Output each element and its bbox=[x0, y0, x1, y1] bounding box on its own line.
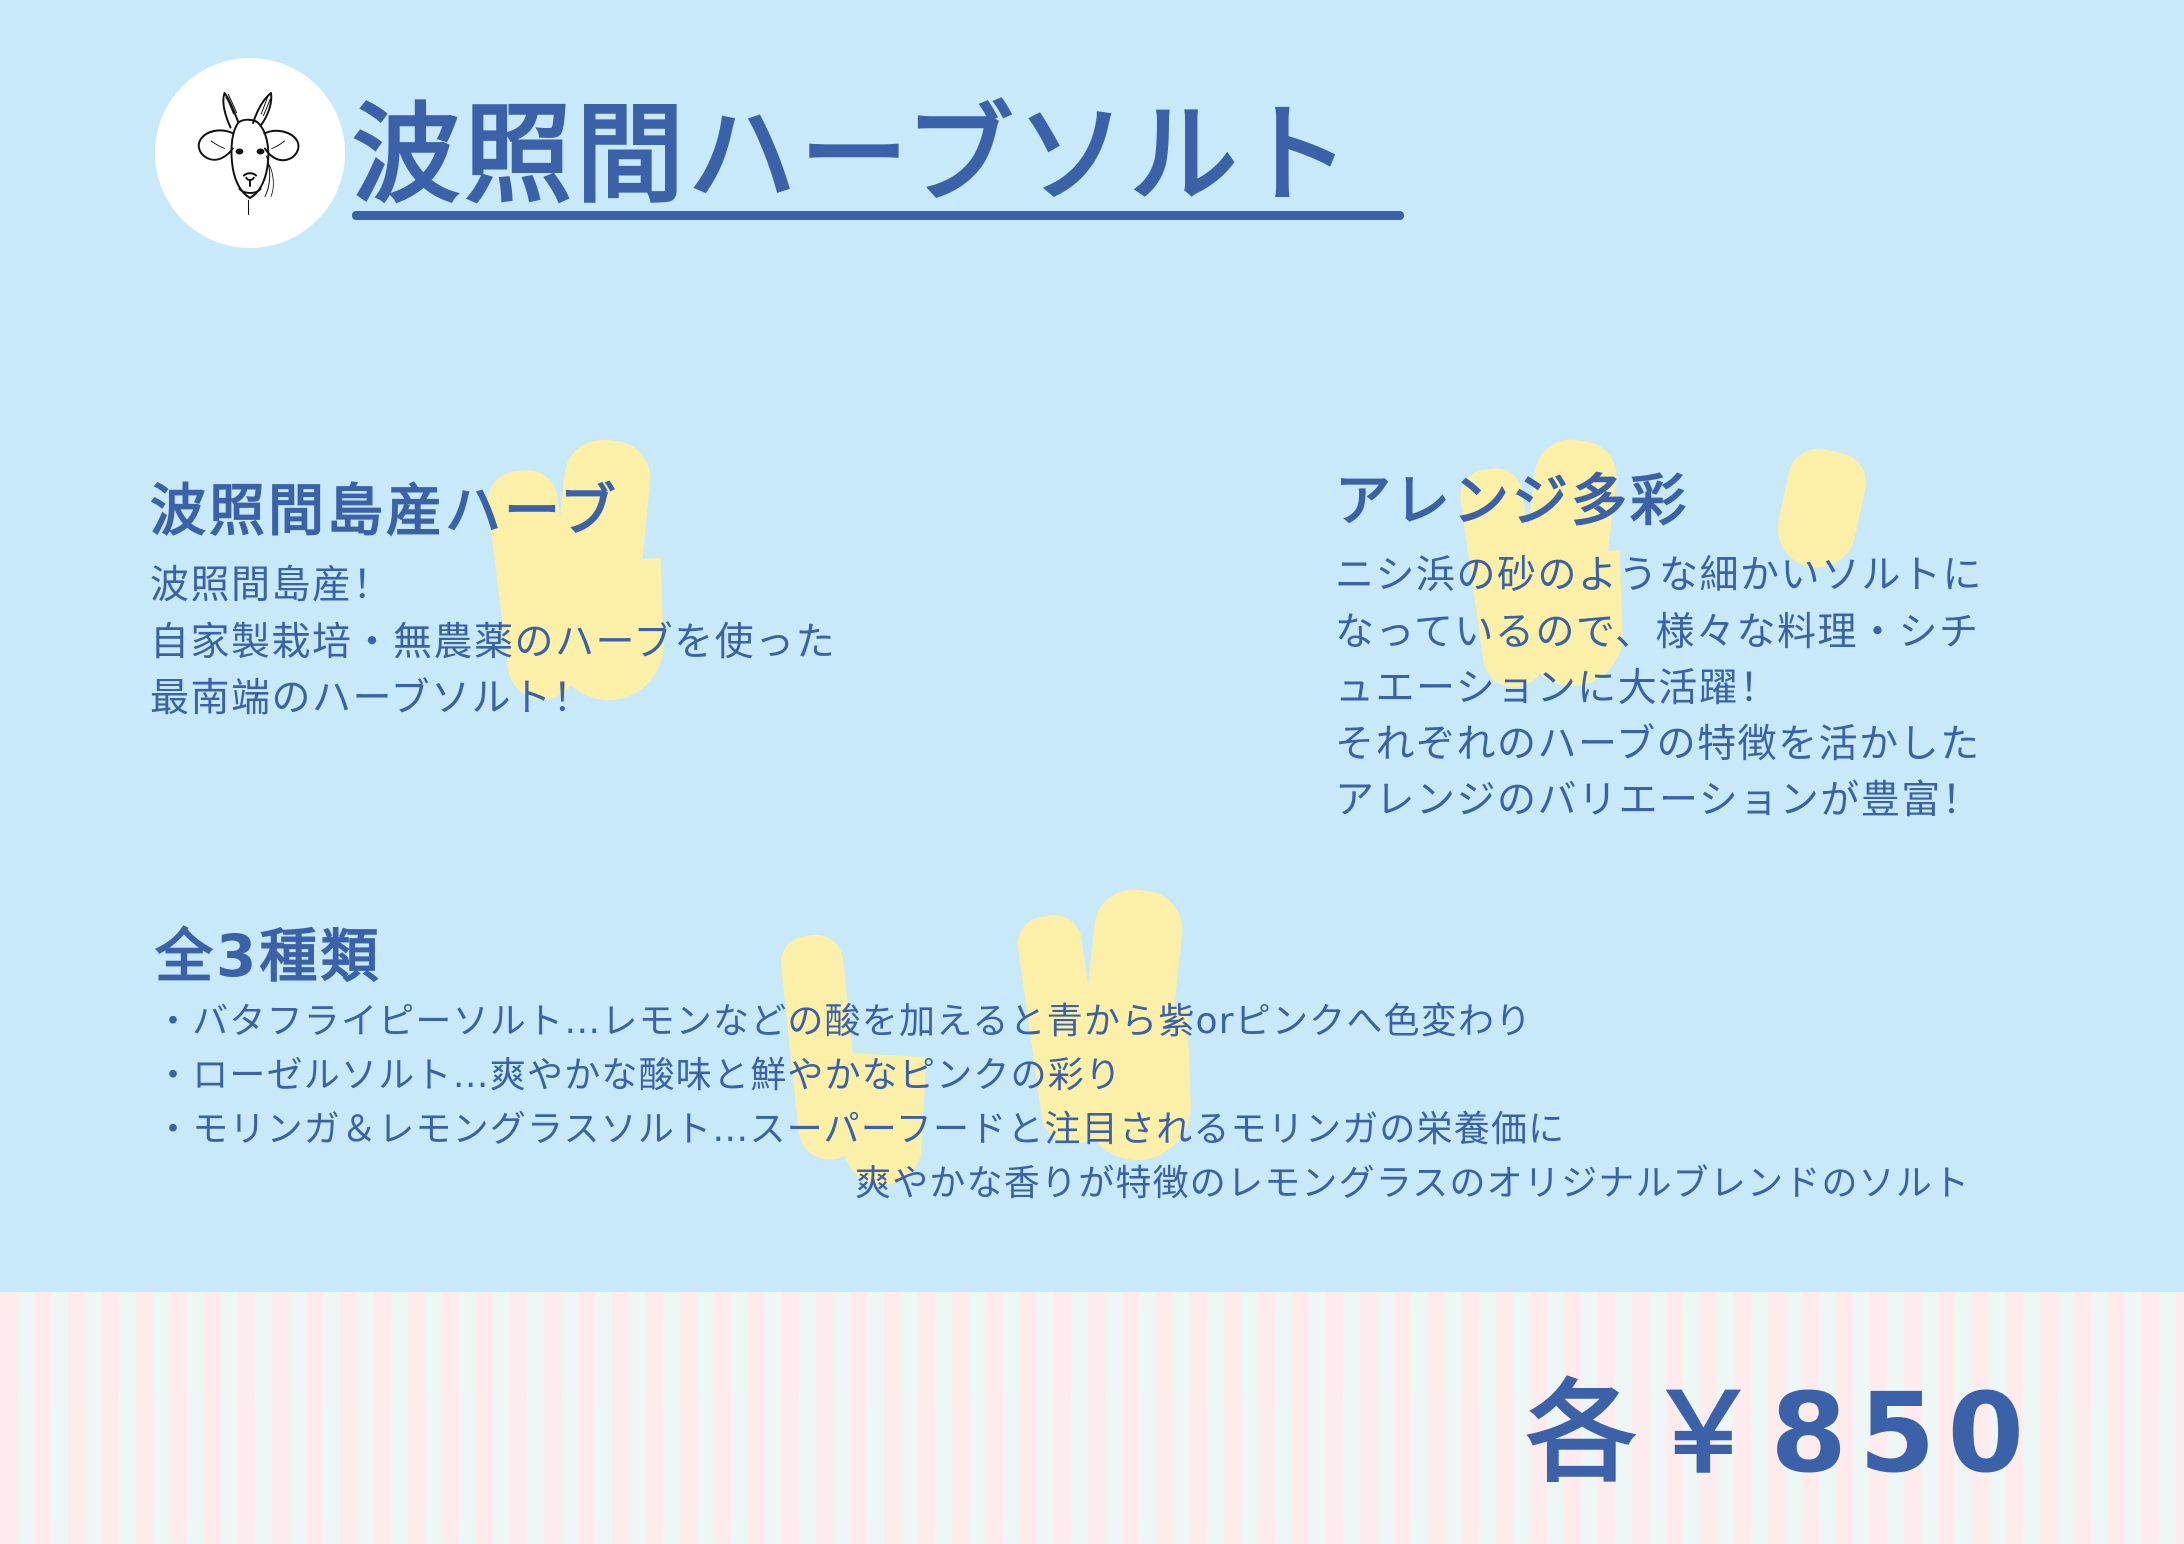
section-right-line: アレンジのバリエーションが豊富！ bbox=[1335, 773, 2125, 829]
section-left-line: 波照間島産！ bbox=[150, 558, 930, 614]
variety-item: ・モリンガ＆レモングラスソルト…スーパーフードと注目されるモリンガの栄養価に bbox=[155, 1103, 2115, 1157]
goat-head-icon bbox=[175, 78, 325, 228]
section-right-line: ュエーションに大活躍！ bbox=[1335, 661, 2125, 717]
section-left-line: 自家製栽培・無農薬のハーブを使った bbox=[150, 615, 930, 671]
section-varieties: 全3種類 ・バタフライピーソルト…レモンなどの酸を加えると青から紫orピンクへ色… bbox=[155, 925, 2115, 1211]
section-right-line: なっているので、様々な料理・シチ bbox=[1335, 605, 2125, 661]
section-versatile-use: アレンジ多彩 ニシ浜の砂のような細かいソルトに なっているので、様々な料理・シチ… bbox=[1335, 470, 2125, 829]
poster-canvas: 波照間ハーブソルト 波照間島産ハーブ 波照間島産！ 自家製栽培・無農薬のハーブを… bbox=[0, 0, 2184, 1544]
section-heading-right: アレンジ多彩 bbox=[1335, 470, 2125, 534]
variety-item-continuation: 爽やかな香りが特徴のレモングラスのオリジナルブレンドのソルト bbox=[155, 1157, 2115, 1211]
section-right-line: ニシ浜の砂のような細かいソルトに bbox=[1335, 548, 2125, 604]
section-heading-varieties: 全3種類 bbox=[155, 925, 2115, 989]
section-right-line: それぞれのハーブの特徴を活かした bbox=[1335, 717, 2125, 773]
section-local-herb: 波照間島産ハーブ 波照間島産！ 自家製栽培・無農薬のハーブを使った 最南端のハー… bbox=[150, 480, 930, 727]
brand-logo bbox=[155, 58, 345, 248]
page-title: 波照間ハーブソルト bbox=[352, 96, 1404, 217]
logo-circle-background bbox=[155, 58, 345, 248]
section-heading-left: 波照間島産ハーブ bbox=[150, 480, 930, 544]
price-label: 各￥850 bbox=[1526, 1378, 2036, 1488]
variety-item: ・ローゼルソルト…爽やかな酸味と鮮やかなピンクの彩り bbox=[155, 1049, 2115, 1103]
title-block: 波照間ハーブソルト bbox=[352, 96, 1404, 220]
variety-item: ・バタフライピーソルト…レモンなどの酸を加えると青から紫orピンクへ色変わり bbox=[155, 995, 2115, 1049]
section-left-line: 最南端のハーブソルト！ bbox=[150, 671, 930, 727]
